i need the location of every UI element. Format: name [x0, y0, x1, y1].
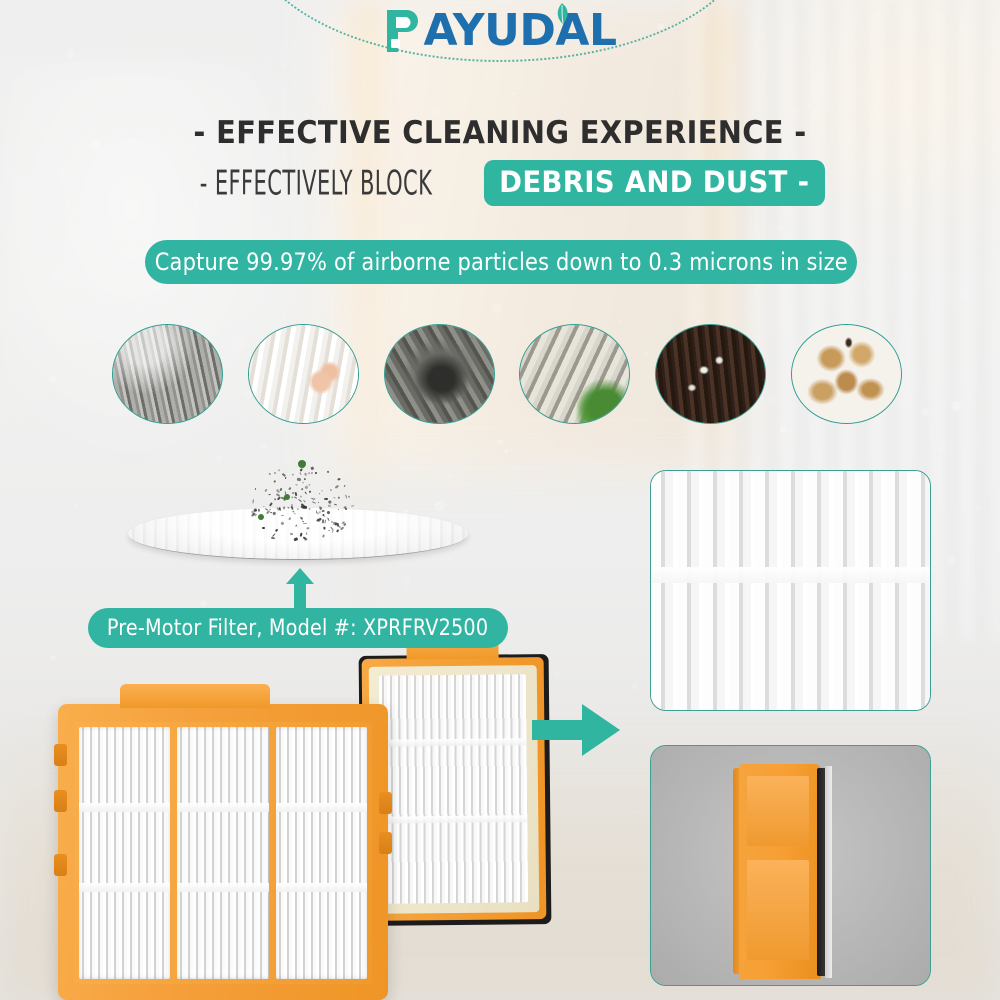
debris-speck: [334, 485, 338, 489]
front-filter-band: [177, 803, 268, 812]
bokeh-dot: [946, 555, 956, 565]
front-filter-band: [79, 883, 170, 892]
debris-speck: [255, 488, 256, 490]
edge-frame-body: [739, 764, 821, 979]
dirt-dust-texture-texture: [113, 325, 222, 423]
front-filter-band: [276, 883, 367, 892]
debris-speck: [312, 498, 316, 501]
debris-speck: [318, 502, 319, 503]
airborne-debris-particles: [240, 452, 360, 544]
debris-speck: [327, 511, 331, 515]
debris-speck: [343, 522, 346, 525]
debris-speck: [296, 525, 298, 527]
debris-speck: [328, 505, 331, 507]
debris-green-particle: [298, 460, 306, 468]
debris-speck: [288, 487, 291, 490]
bokeh-dot: [492, 303, 502, 313]
back-media-rib: [379, 738, 526, 747]
debris-speck: [273, 480, 275, 483]
debris-speck: [300, 516, 303, 519]
debris-speck: [294, 496, 297, 499]
particle-circle-dirt-dust-texture: [112, 324, 223, 424]
debris-speck: [296, 508, 298, 510]
debris-speck: [308, 483, 311, 485]
debris-speck: [321, 510, 324, 512]
debris-speck: [288, 517, 291, 521]
debris-speck: [280, 487, 283, 490]
debris-speck: [301, 488, 304, 491]
debris-speck: [324, 498, 328, 500]
debris-speck: [311, 502, 315, 504]
particle-circle-dark-floor-debris: [655, 324, 766, 424]
debris-speck: [274, 472, 276, 475]
debris-speck: [300, 468, 303, 471]
soil-debris-texture: [520, 325, 629, 423]
debris-speck: [281, 522, 285, 526]
debris-speck: [327, 470, 330, 473]
food-crumbs-texture: [792, 325, 901, 423]
debris-speck: [295, 484, 297, 485]
debris-speck: [322, 519, 325, 523]
debris-speck: [306, 532, 307, 535]
arrow-right-icon: [532, 700, 622, 760]
debris-speck: [335, 529, 338, 533]
edge-media-strip: [825, 766, 832, 978]
bokeh-dot: [921, 408, 929, 416]
debris-speck: [319, 511, 321, 513]
media-closeup-crossband: [651, 567, 930, 583]
arrow-up-icon: [286, 568, 314, 608]
model-label-badge: Pre-Motor Filter, Model #: XPRFRV2500: [88, 608, 508, 648]
dark-floor-debris-texture: [656, 325, 765, 423]
debris-speck: [293, 512, 297, 515]
debris-speck: [273, 512, 276, 515]
dust-mite-texture: [385, 325, 494, 423]
pet-fur-texture: [249, 325, 358, 423]
media-closeup-image: [651, 471, 930, 710]
debris-speck: [310, 472, 313, 475]
debris-speck: [344, 507, 347, 510]
front-filter-media-area: [74, 722, 372, 984]
bokeh-dot: [85, 257, 95, 267]
debris-speck: [282, 473, 286, 477]
debris-speck: [351, 505, 354, 507]
subtitle-banner: Capture 99.97% of airborne particles dow…: [145, 240, 857, 284]
debris-speck: [309, 508, 311, 510]
debris-speck: [328, 530, 330, 532]
bokeh-dot: [903, 272, 909, 278]
filter-disc-diagram: [110, 450, 490, 610]
front-filter-notch: [379, 792, 392, 814]
debris-speck: [268, 473, 270, 475]
headline-highlight-badge: DEBRIS AND DUST -: [484, 160, 825, 206]
front-filter-band: [276, 803, 367, 812]
model-label-text: Pre-Motor Filter, Model #: XPRFRV2500: [107, 616, 488, 641]
bokeh-dot: [976, 505, 980, 509]
debris-speck: [297, 477, 302, 480]
debris-speck: [303, 500, 306, 503]
brand-header: AYUDAL: [0, 0, 1000, 110]
headline-secondary-row: - EFFECTIVELY BLOCK DEBRIS AND DUST -: [0, 160, 1000, 206]
bokeh-dot: [777, 225, 783, 231]
pleated-media-closeup: [650, 470, 931, 711]
debris-speck: [265, 508, 268, 511]
product-filters: [50, 650, 550, 1000]
debris-speck: [262, 527, 265, 529]
debris-speck: [338, 478, 341, 481]
debris-speck: [290, 533, 293, 535]
brand-logo: AYUDAL: [0, 6, 1000, 56]
headline-primary: - EFFECTIVE CLEANING EXPERIENCE -: [35, 112, 965, 154]
subtitle-text: Capture 99.97% of airborne particles dow…: [154, 248, 847, 276]
headline-secondary-prefix: - EFFECTIVELY BLOCK: [199, 163, 432, 203]
debris-green-particle: [258, 514, 264, 520]
particle-circle-pet-fur: [248, 324, 359, 424]
front-filter-handle-tab: [120, 684, 270, 708]
debris-speck: [333, 497, 335, 499]
debris-speck: [295, 492, 298, 496]
debris-speck: [323, 515, 325, 517]
front-filter-panel: [177, 727, 268, 979]
debris-speck: [334, 504, 337, 506]
debris-speck: [269, 494, 271, 495]
debris-speck: [305, 473, 307, 476]
back-filter-gasket: [369, 665, 540, 914]
debris-speck: [321, 490, 323, 492]
debris-speck: [328, 519, 330, 521]
particle-gallery: [112, 322, 902, 426]
debris-speck: [331, 530, 333, 533]
back-media-rib: [380, 816, 527, 825]
debris-speck: [304, 492, 307, 495]
debris-speck: [300, 472, 302, 475]
debris-speck: [303, 523, 307, 524]
front-filter-notch: [54, 744, 67, 766]
debris-speck: [330, 489, 332, 491]
debris-speck: [307, 472, 310, 474]
debris-speck: [285, 476, 287, 479]
debris-speck: [324, 520, 326, 524]
debris-speck: [294, 538, 299, 542]
debris-speck: [344, 485, 346, 488]
hepa-filter-front: [58, 704, 388, 1000]
logo-wordmark: AYUDAL: [423, 6, 616, 56]
back-filter-media: [379, 674, 528, 904]
particle-circle-food-crumbs: [791, 324, 902, 424]
debris-speck: [338, 496, 340, 498]
debris-speck: [264, 489, 268, 493]
bokeh-dot: [554, 671, 561, 678]
front-filter-panel: [79, 727, 170, 979]
front-filter-band: [79, 803, 170, 812]
front-filter-notch: [54, 790, 67, 812]
debris-speck: [338, 509, 340, 511]
debris-speck: [292, 473, 294, 475]
edge-groove: [747, 776, 809, 846]
debris-speck: [323, 527, 325, 530]
debris-speck: [258, 509, 260, 512]
debris-speck: [269, 501, 273, 505]
front-filter-panel: [276, 727, 367, 979]
debris-speck: [284, 506, 286, 509]
debris-speck: [277, 469, 280, 472]
logo-leaf-icon: [553, 2, 571, 26]
front-filter-band: [177, 883, 268, 892]
logo-p-icon: [383, 6, 421, 56]
bokeh-dot: [828, 465, 833, 470]
particle-circle-soil-debris: [519, 324, 630, 424]
front-filter-notch: [54, 854, 67, 876]
debris-speck: [263, 506, 264, 507]
filter-edge-seal-closeup: [650, 745, 931, 986]
debris-speck: [328, 500, 332, 504]
debris-speck: [303, 478, 305, 480]
front-filter-notch: [379, 832, 392, 854]
debris-speck: [281, 515, 284, 517]
particle-circle-dust-mite: [384, 324, 495, 424]
debris-speck: [347, 496, 349, 498]
debris-speck: [276, 493, 280, 497]
bokeh-dot: [261, 445, 266, 450]
debris-speck: [302, 482, 304, 484]
debris-speck: [275, 528, 279, 532]
debris-speck: [288, 507, 290, 509]
debris-speck: [253, 499, 255, 503]
headline-block: - EFFECTIVE CLEANING EXPERIENCE - - EFFE…: [0, 112, 1000, 206]
debris-speck: [309, 491, 311, 493]
debris-speck: [318, 493, 320, 495]
debris-speck: [322, 534, 325, 538]
debris-speck: [298, 499, 302, 502]
debris-speck: [301, 495, 303, 498]
debris-speck: [315, 472, 317, 474]
debris-speck: [311, 466, 315, 470]
debris-green-particle: [284, 494, 290, 500]
edge-groove: [747, 860, 809, 960]
debris-speck: [306, 526, 310, 529]
